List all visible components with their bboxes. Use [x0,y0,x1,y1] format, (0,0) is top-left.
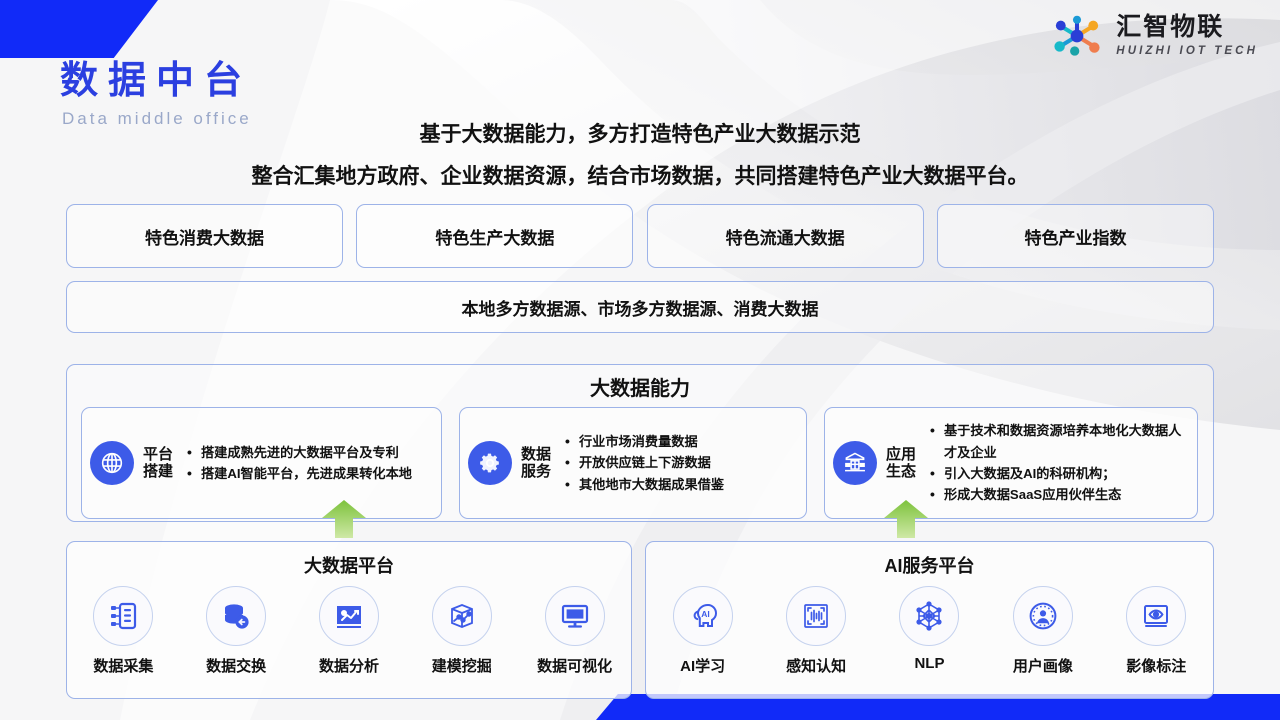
platform-item-label: 建模挖掘 [432,655,492,676]
database-exchange-icon [206,586,266,646]
page-title: 数据中台 [60,62,252,100]
user-profile-icon [1013,586,1073,646]
platform-item-user-profile[interactable]: 用户画像 [993,586,1093,676]
platform-item-data-analysis[interactable]: 数据分析 [299,586,399,676]
source-box-circulation[interactable]: 特色流通大数据 [647,204,924,268]
platform-item-perception[interactable]: 感知认知 [766,586,866,676]
monitor-icon [545,586,605,646]
platform-item-label: 感知认知 [786,655,846,676]
capability-bullet: 形成大数据SaaS应用伙伴生态 [928,484,1189,505]
platform-item-label: 数据采集 [93,655,153,676]
ai-head-icon: AI [673,586,733,646]
capability-card-label-line2: 搭建 [141,463,175,480]
platform-item-label: 影像标注 [1126,655,1186,676]
svg-text:AI: AI [701,609,710,619]
platform-title: AI服务平台 [646,552,1213,578]
up-arrow-icon-left [322,500,366,538]
capability-bullet: 基于技术和数据资源培养本地化大数据人才及企业 [928,420,1189,463]
gear-icon [468,441,512,485]
neural-network-icon [899,586,959,646]
capability-card-label: 平台 搭建 [141,446,175,481]
logo-company-tagline: HUIZHI IOT TECH [1116,46,1258,58]
capability-card-label-line2: 服务 [519,463,553,480]
capability-card-label: 应用 生态 [884,446,918,481]
platform-item-label: 数据可视化 [537,655,612,676]
platform-items: 数据采集 数据交换 [67,586,631,676]
bank-building-icon [833,441,877,485]
source-box-industry-index[interactable]: 特色产业指数 [937,204,1214,268]
capability-card-label-line1: 数据 [519,446,553,463]
platform-item-image-annotation[interactable]: 影像标注 [1106,586,1206,676]
capability-card-label-line2: 生态 [884,463,918,480]
platform-item-modeling[interactable]: 建模挖掘 [412,586,512,676]
up-arrow-icon-right [884,500,928,538]
source-box-production[interactable]: 特色生产大数据 [356,204,633,268]
logo-company-name: 汇智物联 [1116,15,1258,40]
company-logo: 汇智物联 HUIZHI IOT TECH [1048,14,1258,58]
molecule-logo-icon [1048,14,1106,58]
capability-card-bullets: 行业市场消费量数据 开放供应链上下游数据 其他地市大数据成果借鉴 [563,431,798,495]
source-box-consumption[interactable]: 特色消费大数据 [66,204,343,268]
platform-item-visualization[interactable]: 数据可视化 [525,586,625,676]
headline-line-2: 整合汇集地方政府、企业数据资源，结合市场数据，共同搭建特色产业大数据平台。 [0,160,1280,190]
platform-items: AI AI学习 感知认知 [646,586,1213,676]
image-eye-icon [1126,586,1186,646]
globe-icon [90,441,134,485]
capability-bullet: 引入大数据及AI的科研机构； [928,463,1189,484]
capability-card-label-line1: 应用 [884,446,918,463]
platform-panel-bigdata: 大数据平台 数据采集 [66,541,632,699]
capability-card-bullets: 搭建成熟先进的大数据平台及专利 搭建AI智能平台，先进成果转化本地 [185,442,433,485]
platform-title: 大数据平台 [67,552,631,578]
capability-card-label-line1: 平台 [141,446,175,463]
platform-item-label: 数据分析 [319,655,379,676]
chart-analysis-icon [319,586,379,646]
platform-item-data-exchange[interactable]: 数据交换 [186,586,286,676]
capability-card-platform-build[interactable]: 平台 搭建 搭建成熟先进的大数据平台及专利 搭建AI智能平台，先进成果转化本地 [81,407,442,519]
capability-bullet: 搭建成熟先进的大数据平台及专利 [185,442,433,463]
data-sources-bar: 本地多方数据源、市场多方数据源、消费大数据 [66,281,1214,333]
capability-panel-title: 大数据能力 [67,372,1213,401]
platform-item-label: 用户画像 [1013,655,1073,676]
capability-bullet: 其他地市大数据成果借鉴 [563,474,798,495]
capability-card-label: 数据 服务 [519,446,553,481]
capability-bullet: 搭建AI智能平台，先进成果转化本地 [185,463,433,484]
source-boxes-row: 特色消费大数据 特色生产大数据 特色流通大数据 特色产业指数 [66,204,1214,268]
platform-item-label: NLP [914,655,944,672]
capability-bullet: 行业市场消费量数据 [563,431,798,452]
capability-panel: 大数据能力 平台 搭建 搭建成熟先进的大数据平台及专利 搭建AI智能平台，先进成… [66,364,1214,522]
platform-item-label: AI学习 [680,655,725,676]
capability-card-bullets: 基于技术和数据资源培养本地化大数据人才及企业 引入大数据及AI的科研机构； 形成… [928,420,1189,506]
platform-panel-ai: AI服务平台 AI AI学习 感知认知 [645,541,1214,699]
headline-line-1: 基于大数据能力，多方打造特色产业大数据示范 [0,118,1280,148]
capability-card-data-service[interactable]: 数据 服务 行业市场消费量数据 开放供应链上下游数据 其他地市大数据成果借鉴 [459,407,807,519]
data-collection-icon [93,586,153,646]
capability-card-application-ecosystem[interactable]: 应用 生态 基于技术和数据资源培养本地化大数据人才及企业 引入大数据及AI的科研… [824,407,1198,519]
platform-item-data-collection[interactable]: 数据采集 [73,586,173,676]
waveform-scan-icon [786,586,846,646]
platform-item-ai-learning[interactable]: AI AI学习 [653,586,753,676]
capability-bullet: 开放供应链上下游数据 [563,452,798,473]
platform-item-nlp[interactable]: NLP [879,586,979,676]
modeling-cube-icon [432,586,492,646]
capability-cards: 平台 搭建 搭建成熟先进的大数据平台及专利 搭建AI智能平台，先进成果转化本地 … [67,401,1213,519]
platform-item-label: 数据交换 [206,655,266,676]
